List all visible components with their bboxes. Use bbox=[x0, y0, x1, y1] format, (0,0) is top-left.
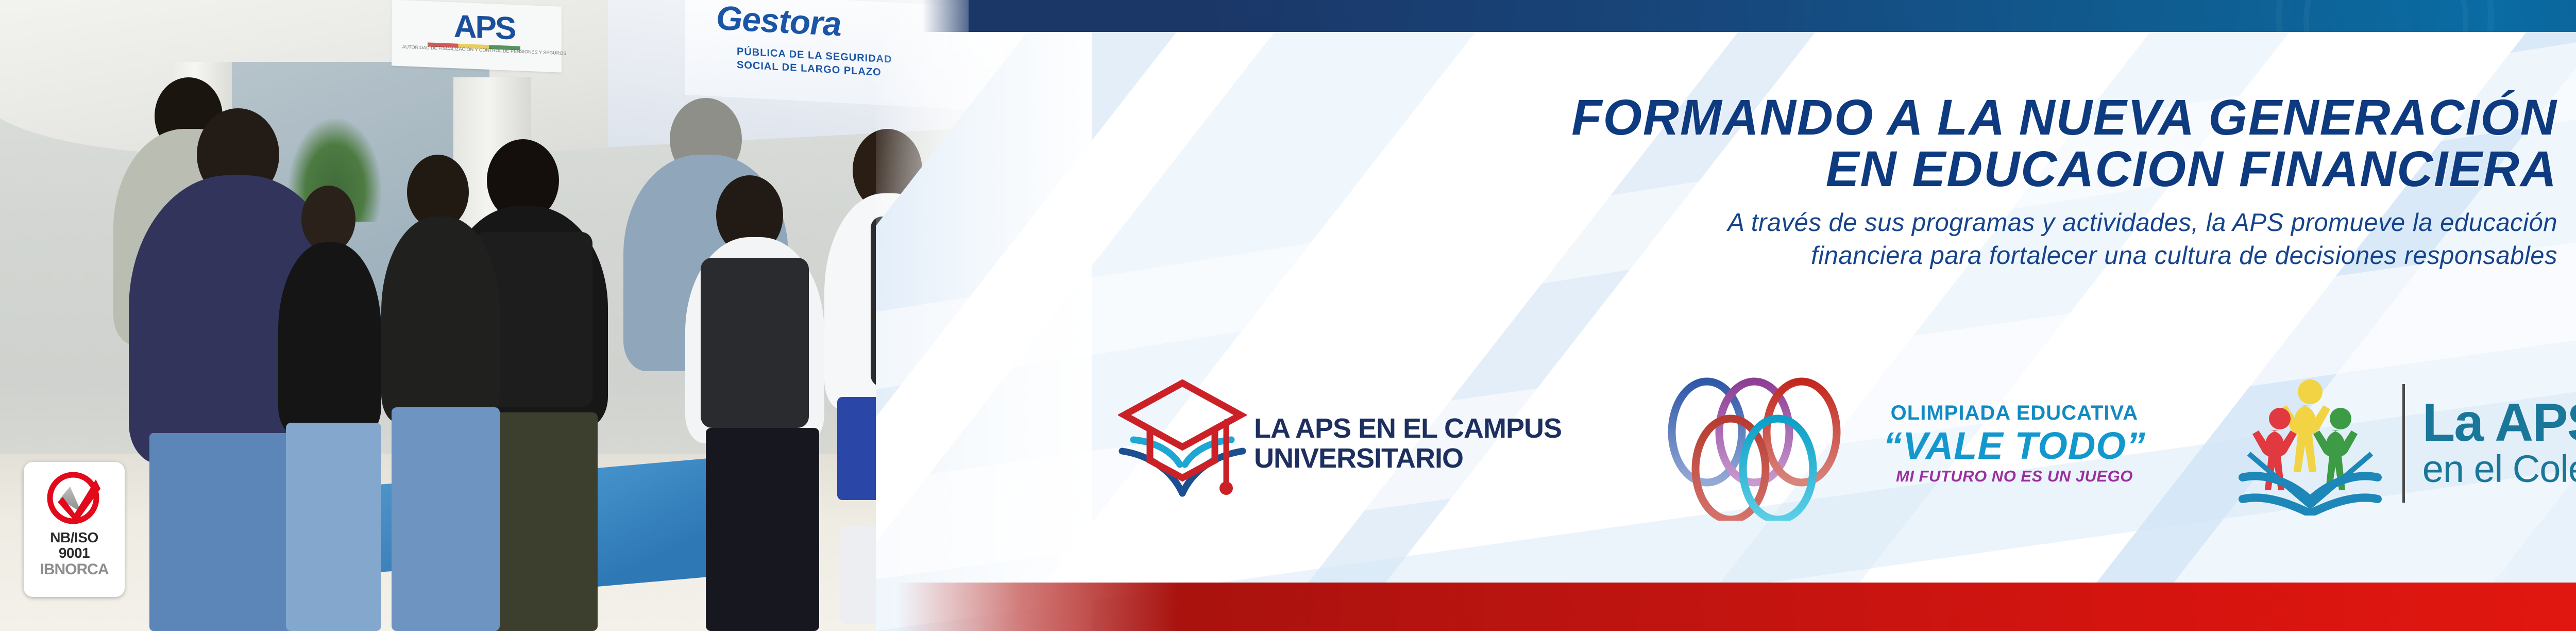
bottom-accent-bar bbox=[896, 583, 2576, 631]
campus-logo-text: LA APS EN EL CAMPUS UNIVERSITARIO bbox=[1254, 413, 1562, 473]
subhead-line-1: A través de sus programas y actividades,… bbox=[1010, 206, 2557, 239]
page-subtitle: A través de sus programas y actividades,… bbox=[1010, 206, 2576, 272]
person-legs bbox=[706, 428, 819, 631]
cole-logo-text: La APS en el Cole bbox=[2422, 397, 2576, 490]
iso-standard-line2: 9001 bbox=[59, 545, 90, 561]
logo-la-aps-en-el-campus-universitario: LA APS EN EL CAMPUS UNIVERSITARIO bbox=[1118, 374, 1562, 513]
olympic-rings-icon bbox=[1651, 366, 1878, 521]
top-accent-bar bbox=[969, 0, 2576, 32]
subhead-line-2: financiera para fortalecer una cultura d… bbox=[1010, 239, 2557, 272]
olimpiada-logo-text: OLIMPIADA EDUCATIVA “VALE TODO” MI FUTUR… bbox=[1883, 401, 2146, 486]
olimpiada-line-1: OLIMPIADA EDUCATIVA bbox=[1891, 401, 2138, 425]
cole-logo-line-1: La APS bbox=[2422, 397, 2576, 449]
olimpiada-line-3: MI FUTURO NO ES UN JUEGO bbox=[1896, 467, 2133, 486]
campus-logo-line-2: UNIVERSITARIO bbox=[1254, 443, 1562, 473]
iso-certification-badge: NB/ISO 9001 IBNORCA bbox=[24, 462, 125, 597]
page-title: FORMANDO A LA NUEVA GENERACIÓN EN EDUCAC… bbox=[1010, 92, 2576, 195]
logo-la-aps-en-el-cole: La APS en el Cole bbox=[2235, 371, 2576, 516]
headline-line-1: FORMANDO A LA NUEVA GENERACIÓN bbox=[1010, 92, 2557, 143]
olimpiada-line-2: “VALE TODO” bbox=[1883, 425, 2146, 467]
person-body bbox=[278, 242, 381, 433]
logo-divider bbox=[2402, 384, 2405, 503]
iso-standard-line1: NB/ISO bbox=[50, 530, 98, 545]
campus-logo-line-1: LA APS EN EL CAMPUS bbox=[1254, 413, 1562, 443]
person-legs bbox=[286, 423, 381, 631]
program-logo-row: LA APS EN EL CAMPUS UNIVERSITARIO bbox=[1118, 361, 2576, 526]
open-book-children-icon bbox=[2235, 371, 2385, 516]
logo-olimpiada-educativa-vale-todo: OLIMPIADA EDUCATIVA “VALE TODO” MI FUTUR… bbox=[1651, 366, 2146, 521]
headline-line-2: EN EDUCACION FINANCIERA bbox=[1010, 143, 2557, 195]
iso-certifier-name: IBNORCA bbox=[40, 561, 109, 578]
person-body bbox=[381, 217, 500, 423]
graduation-cap-book-icon bbox=[1118, 374, 1247, 513]
cole-logo-line-2: en el Cole bbox=[2422, 449, 2576, 490]
backpack bbox=[701, 258, 809, 428]
aps-education-banner: APS AUTORIDAD DE FISCALIZACIÓN Y CONTROL… bbox=[0, 0, 2576, 631]
check-circle-icon bbox=[42, 468, 106, 529]
person-legs bbox=[392, 407, 500, 631]
